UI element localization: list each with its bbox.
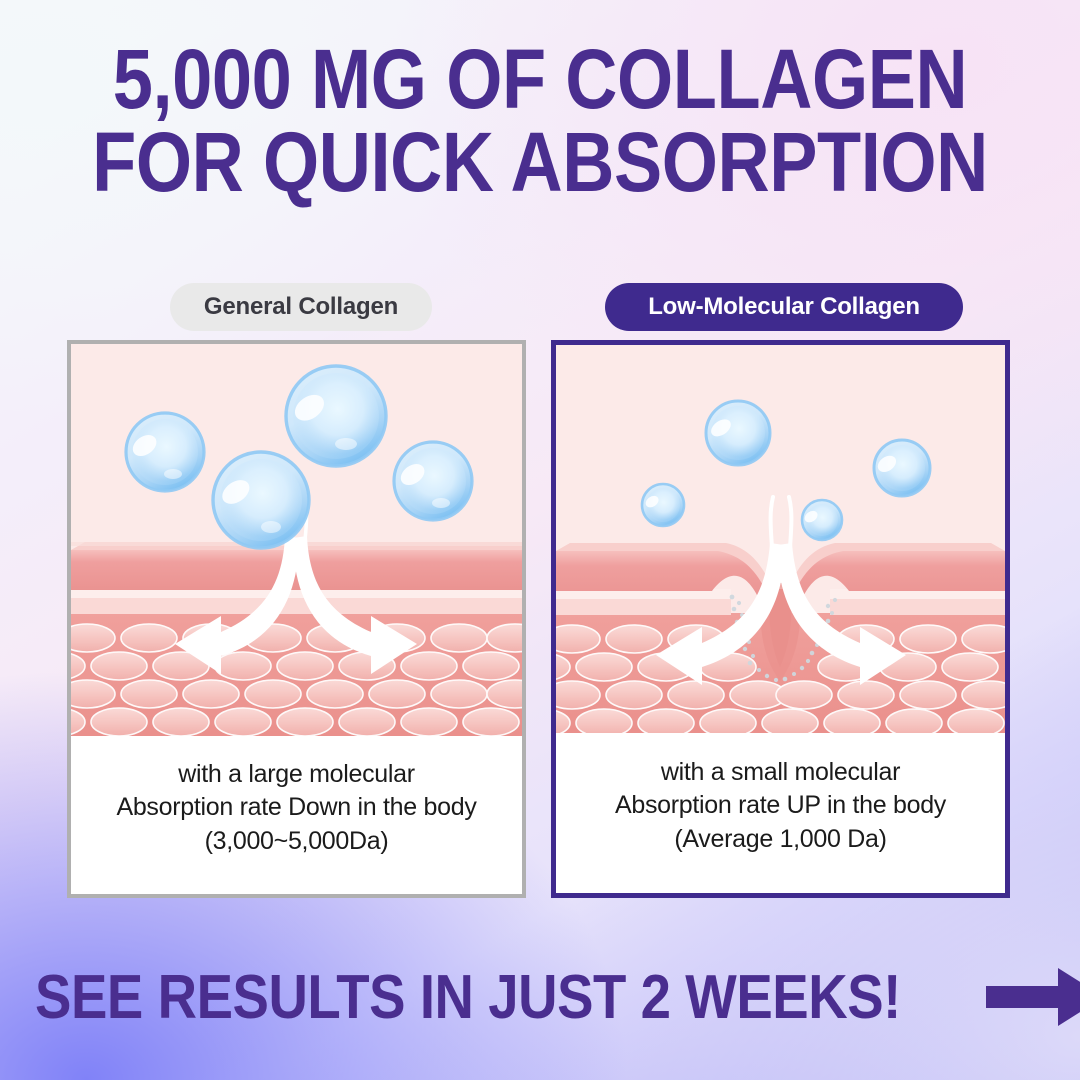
badge-general-collagen: General Collagen: [170, 283, 432, 331]
page-title: 5,000 MG OF COLLAGEN FOR QUICK ABSORPTIO…: [76, 38, 1005, 204]
badge-general-collagen-label: General Collagen: [204, 293, 398, 321]
footer-banner: SEE RESULTS IN JUST 2 WEEKS!: [0, 955, 1080, 1039]
panel-low-molecular-collagen: with a small molecular Absorption rate U…: [551, 340, 1010, 898]
illustration-small-molecule-skin: [556, 345, 1005, 733]
arrow-right-icon: [986, 968, 1080, 1026]
poster-canvas: 5,000 MG OF COLLAGEN FOR QUICK ABSORPTIO…: [0, 0, 1080, 1080]
illustration-large-molecule-skin: [71, 344, 522, 736]
badge-low-molecular-collagen: Low-Molecular Collagen: [605, 283, 963, 331]
panel-general-collagen: with a large molecular Absorption rate D…: [67, 340, 526, 898]
panel-left-caption: with a large molecular Absorption rate D…: [71, 736, 522, 894]
footer-headline: SEE RESULTS IN JUST 2 WEEKS!: [35, 962, 901, 1033]
panel-right-caption: with a small molecular Absorption rate U…: [556, 733, 1005, 893]
badge-low-molecular-collagen-label: Low-Molecular Collagen: [648, 293, 920, 321]
